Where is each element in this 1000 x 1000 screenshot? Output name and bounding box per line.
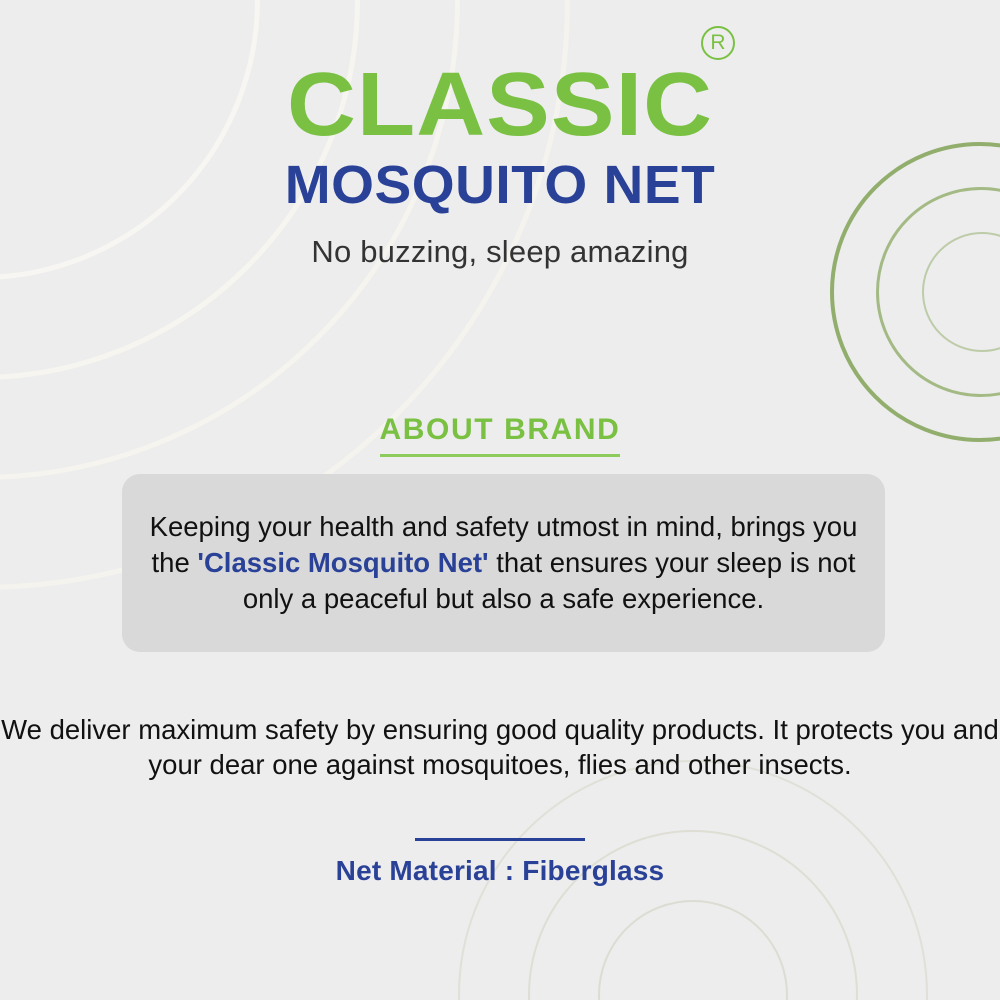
value-proposition-paragraph: We deliver maximum safety by ensuring go… <box>0 712 1000 782</box>
brand-name-wrap: CLASSIC R <box>299 60 701 150</box>
material-divider <box>415 838 585 841</box>
brand-subtitle: MOSQUITO NET <box>0 158 1000 212</box>
about-card-brand-highlight: 'Classic Mosquito Net' <box>197 547 488 578</box>
net-material-label: Net Material : Fiberglass <box>0 855 1000 887</box>
about-brand-heading-wrap: ABOUT BRAND <box>0 413 1000 457</box>
about-brand-card-text: Keeping your health and safety utmost in… <box>122 509 885 616</box>
brand-tagline: No buzzing, sleep amazing <box>0 234 1000 270</box>
brand-logo-block: CLASSIC R MOSQUITO NET No buzzing, sleep… <box>0 60 1000 270</box>
brand-name: CLASSIC <box>287 60 713 150</box>
decorative-ring-bottom-1 <box>598 900 788 1000</box>
about-brand-heading: ABOUT BRAND <box>380 413 621 457</box>
product-infographic-page: CLASSIC R MOSQUITO NET No buzzing, sleep… <box>0 0 1000 1000</box>
about-brand-card: Keeping your health and safety utmost in… <box>122 474 885 652</box>
registered-trademark-icon: R <box>701 26 735 60</box>
